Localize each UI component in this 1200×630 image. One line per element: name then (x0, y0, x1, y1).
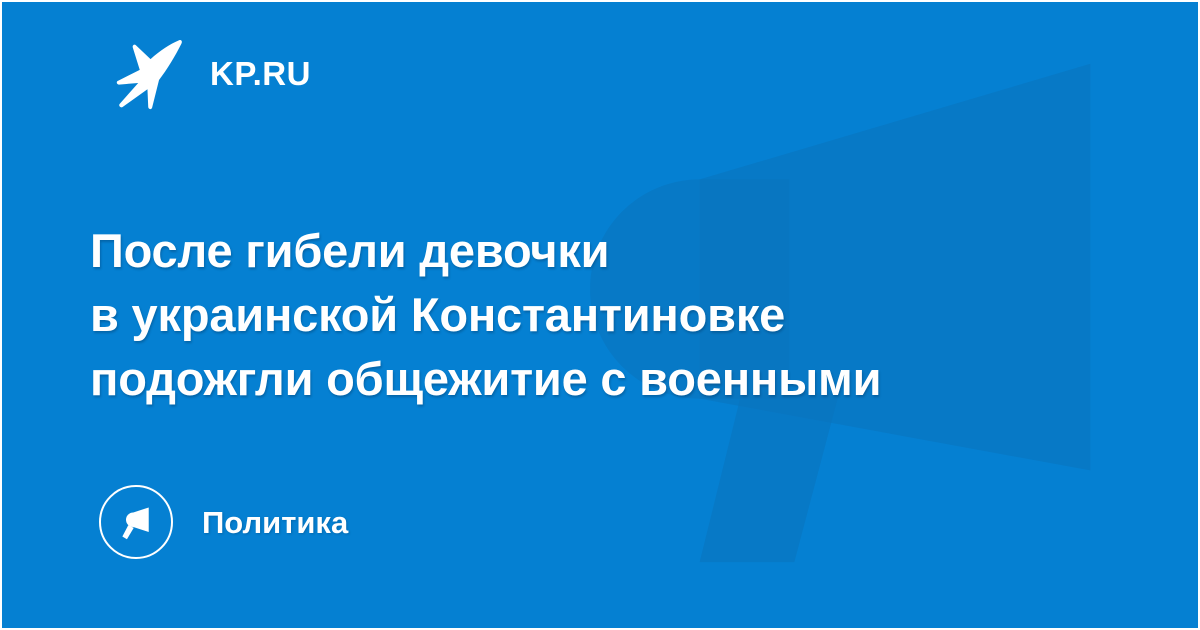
swallow-bird-icon (110, 36, 188, 110)
headline-line-2: в украинской Константиновке (90, 283, 1110, 347)
brand-logo[interactable]: KP.RU (110, 36, 311, 110)
social-share-card: KP.RU После гибели девочки в украинской … (0, 0, 1200, 630)
megaphone-icon (99, 485, 173, 559)
headline-line-3: подожгли общежитие с военными (90, 347, 1110, 411)
category-label: Политика (202, 507, 348, 538)
brand-name: KP.RU (210, 57, 311, 90)
headline: После гибели девочки в украинской Конста… (90, 219, 1110, 411)
headline-line-1: После гибели девочки (90, 219, 1110, 283)
category-badge[interactable]: Политика (99, 485, 348, 559)
